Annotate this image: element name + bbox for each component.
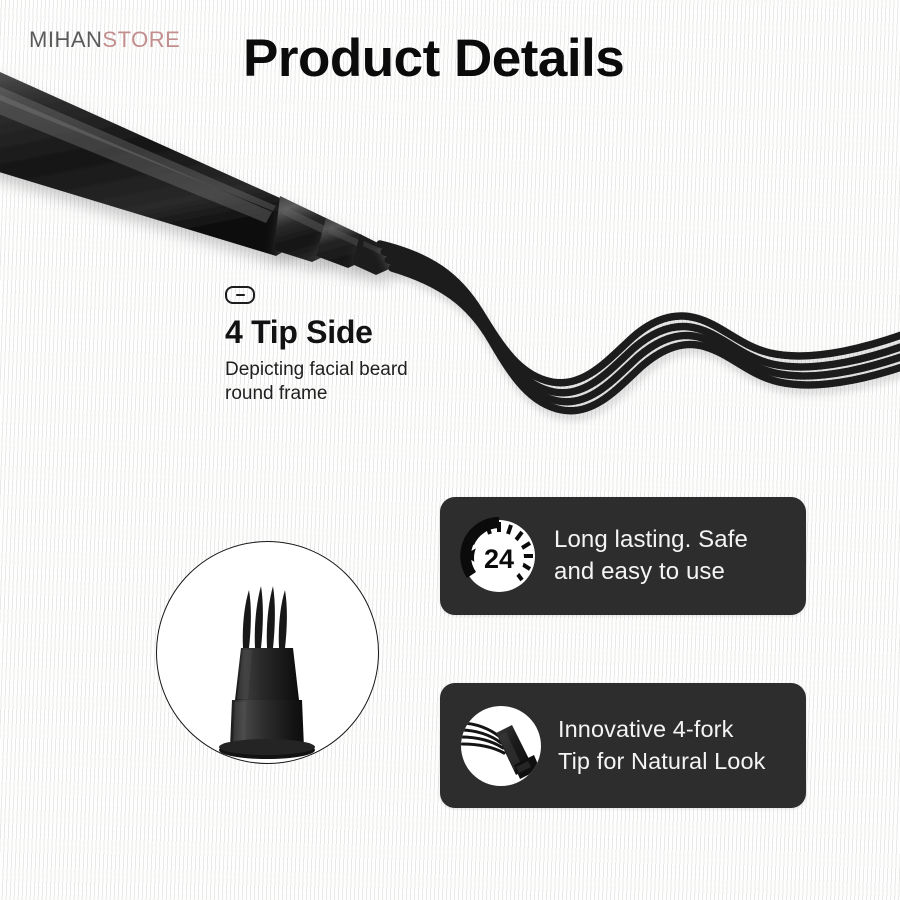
product-details-page: MIHANSTORE Product Details 4 Tip Side De… [0, 0, 900, 900]
clock-24-hour-icon: 24 [458, 515, 540, 597]
feature-card-long-lasting: 24 Long lasting. Safe and easy to use [440, 497, 806, 615]
brand-logo-part-1: MIHAN [29, 27, 102, 52]
clock-icon-label: 24 [484, 544, 514, 574]
feature-card-1-text: Long lasting. Safe and easy to use [554, 524, 748, 588]
dash-icon [236, 294, 245, 297]
four-prong-pen-tip-photo [157, 542, 378, 763]
brand-logo-part-2: STORE [102, 27, 180, 52]
page-title: Product Details [243, 28, 624, 89]
brand-logo: MIHANSTORE [29, 27, 180, 53]
needle-group [243, 586, 287, 648]
callout-title: 4 Tip Side [225, 316, 485, 350]
feature-card-2-text: Innovative 4-fork Tip for Natural Look [558, 714, 766, 777]
pen-tip-closeup-circle [156, 541, 379, 764]
tip-side-callout: 4 Tip Side Depicting facial beard round … [225, 286, 485, 406]
four-fork-tip-photo-icon [458, 703, 544, 789]
feature-card-four-fork: Innovative 4-fork Tip for Natural Look [440, 683, 806, 808]
dash-pill-icon [225, 286, 255, 304]
callout-subtitle: Depicting facial beard round frame [225, 358, 485, 407]
